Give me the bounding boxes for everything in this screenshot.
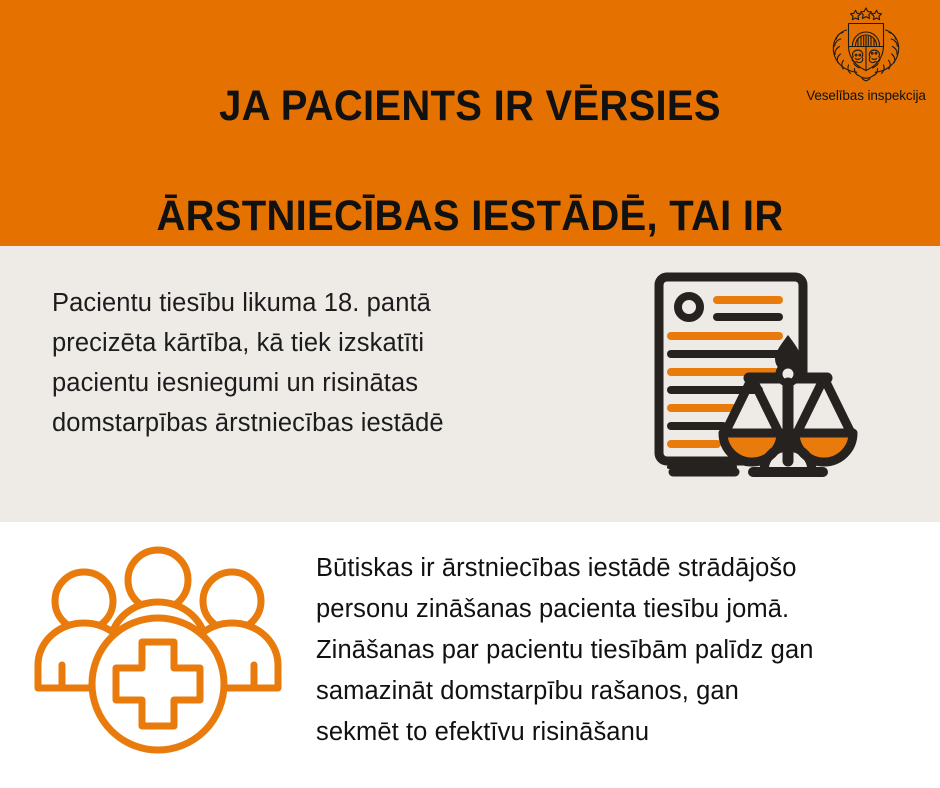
document-with-scales-of-justice-icon: [645, 255, 915, 505]
upper-paragraph: Pacientu tiesību likuma 18. pantā preciz…: [52, 283, 592, 443]
upper-paragraph-line-2: precizēta kārtība, kā tiek izskatīti: [52, 323, 592, 363]
lower-paragraph-line-1: Būtiskas ir ārstniecības iestādē strādāj…: [316, 548, 916, 589]
lower-paragraph-line-3: Zināšanas par pacientu tiesībām palīdz g…: [316, 630, 916, 671]
page-title-line-2: ĀRSTNIECĪBAS IESTĀDĒ, TAI IR: [33, 189, 907, 244]
lower-paragraph: Būtiskas ir ārstniecības iestādē strādāj…: [316, 548, 916, 753]
logo-caption: Veselības inspekcija: [800, 88, 932, 103]
medical-staff-group-icon: [22, 544, 294, 766]
organization-logo: Veselības inspekcija: [800, 6, 932, 110]
latvian-coat-of-arms-icon: [822, 6, 910, 86]
lower-paragraph-line-4: samazināt domstarpību rašanos, gan: [316, 671, 916, 712]
upper-paragraph-line-4: domstarpības ārstniecības iestādē: [52, 403, 592, 443]
infographic-poster: JA PACIENTS IR VĒRSIES ĀRSTNIECĪBAS IEST…: [0, 0, 940, 788]
lower-paragraph-line-5: sekmēt to efektīvu risināšanu: [316, 712, 916, 753]
upper-paragraph-line-3: pacientu iesniegumi un risinātas: [52, 363, 592, 403]
page-title-line-1: JA PACIENTS IR VĒRSIES: [33, 79, 907, 134]
upper-paragraph-line-1: Pacientu tiesību likuma 18. pantā: [52, 283, 592, 323]
lower-paragraph-line-2: personu zināšanas pacienta tiesību jomā.: [316, 589, 916, 630]
